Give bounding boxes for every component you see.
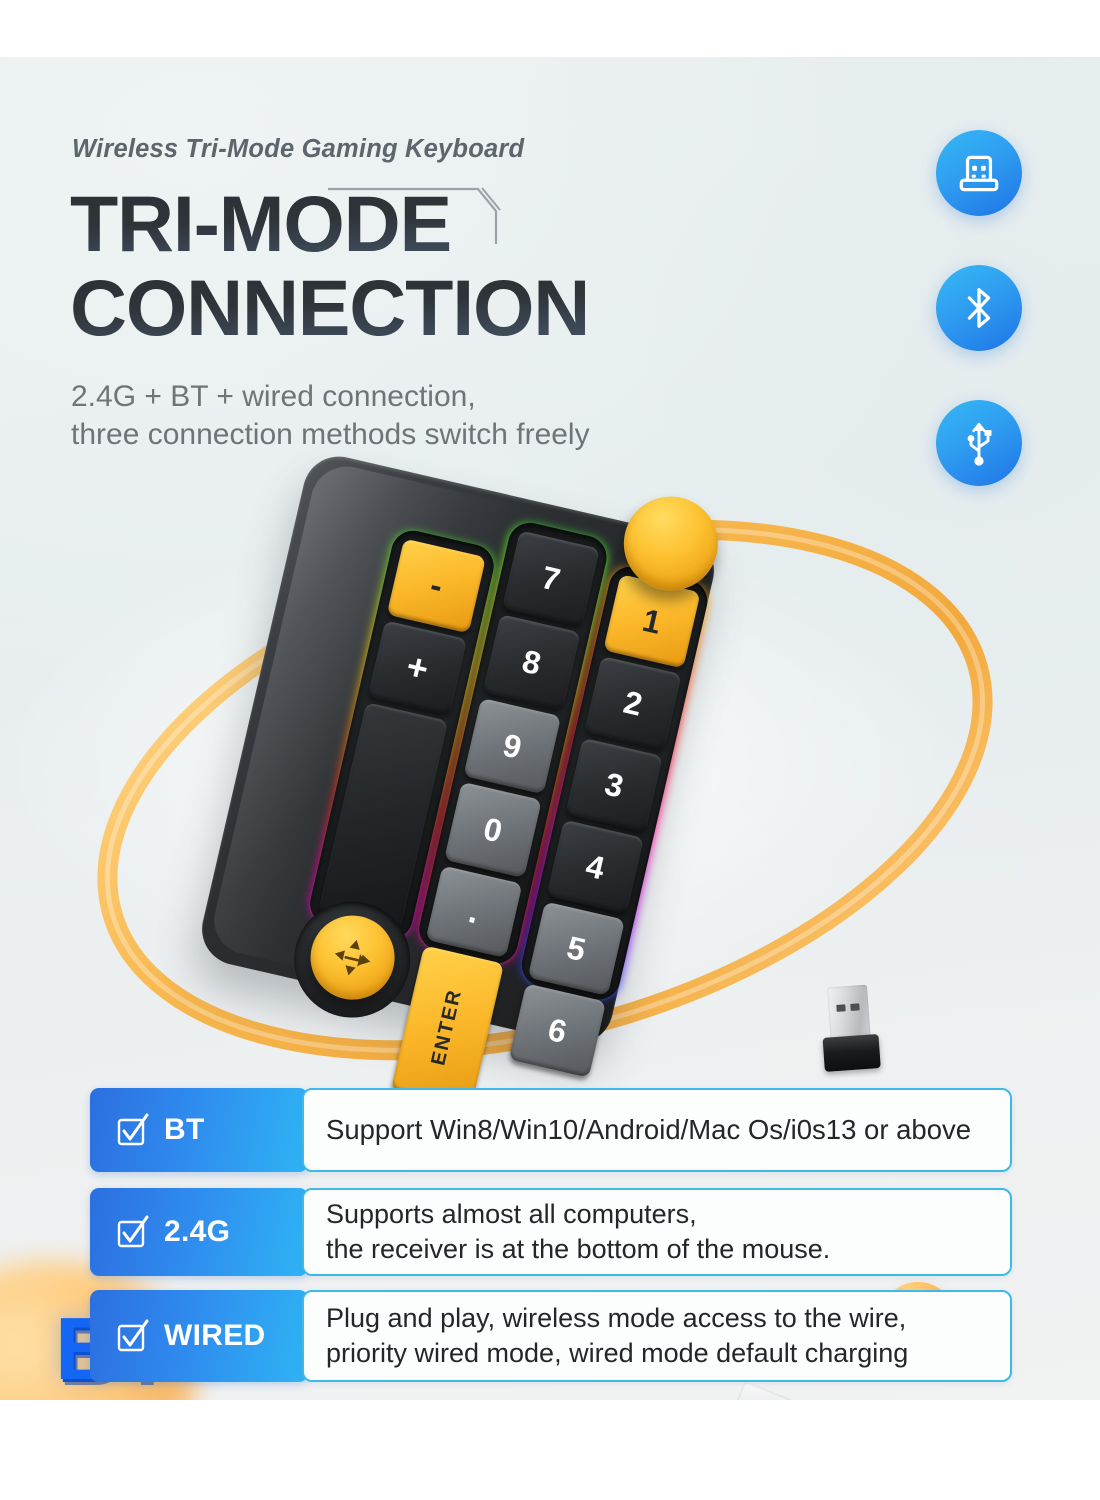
- feature-description: Plug and play, wireless mode access to t…: [302, 1290, 1012, 1382]
- key-label: -: [426, 566, 446, 607]
- key-label: +: [402, 645, 432, 691]
- page-title: TRI-MODE CONNECTION: [70, 186, 710, 346]
- feature-tag-label: BT: [164, 1113, 205, 1147]
- bluetooth-icon: [936, 265, 1022, 351]
- key-label: 2: [620, 683, 646, 723]
- feature-tag-label: 2.4G: [164, 1215, 230, 1249]
- usb-receiver-icon: [936, 130, 1022, 216]
- eyebrow-text: Wireless Tri-Mode Gaming Keyboard: [72, 135, 524, 164]
- key-label: ENTER: [428, 986, 468, 1067]
- key-label: 9: [499, 726, 525, 766]
- product-scene: - + 7 8 9 0 . 1: [0, 430, 1100, 1110]
- checkbox-checked-icon: [116, 1215, 150, 1249]
- feature-description: Supports almost all computers, the recei…: [302, 1188, 1012, 1276]
- key-label: 5: [563, 929, 589, 969]
- title-line-1: TRI-MODE: [70, 186, 710, 262]
- key-label: 1: [639, 601, 665, 641]
- dongle-metal-connector: [827, 985, 871, 1042]
- dongle-plastic-body: [823, 1034, 881, 1072]
- usb-nano-receiver: [819, 984, 881, 1074]
- checkbox-checked-icon: [116, 1113, 150, 1147]
- feature-tag-label: WIRED: [164, 1319, 266, 1353]
- feature-description: Support Win8/Win10/Android/Mac Os/i0s13 …: [302, 1088, 1012, 1172]
- feature-tag-wired: WIRED: [90, 1290, 308, 1382]
- checkbox-checked-icon: [116, 1319, 150, 1353]
- key-label: 7: [538, 558, 564, 598]
- direction-arrows-icon: [321, 926, 383, 988]
- feature-card-wired: WIRED Plug and play, wireless mode acces…: [90, 1290, 1012, 1382]
- key-label: 6: [545, 1011, 571, 1051]
- feature-card-bt: BT Support Win8/Win10/Android/Mac Os/i0s…: [90, 1088, 1012, 1172]
- key-label: 8: [519, 642, 545, 682]
- key-label: .: [465, 892, 483, 932]
- title-line-2: CONNECTION: [70, 270, 710, 346]
- bottom-white-band: [0, 1400, 1100, 1500]
- product-infographic: Wireless Tri-Mode Gaming Keyboard TRI-MO…: [0, 0, 1100, 1500]
- key-label: 3: [601, 765, 627, 805]
- feature-card-24g: 2.4G Supports almost all computers, the …: [90, 1188, 1012, 1276]
- key-label: 4: [582, 847, 608, 887]
- top-white-band: [0, 0, 1100, 58]
- feature-tag-24g: 2.4G: [90, 1188, 308, 1276]
- key-label: 0: [480, 810, 506, 850]
- feature-tag-bt: BT: [90, 1088, 308, 1172]
